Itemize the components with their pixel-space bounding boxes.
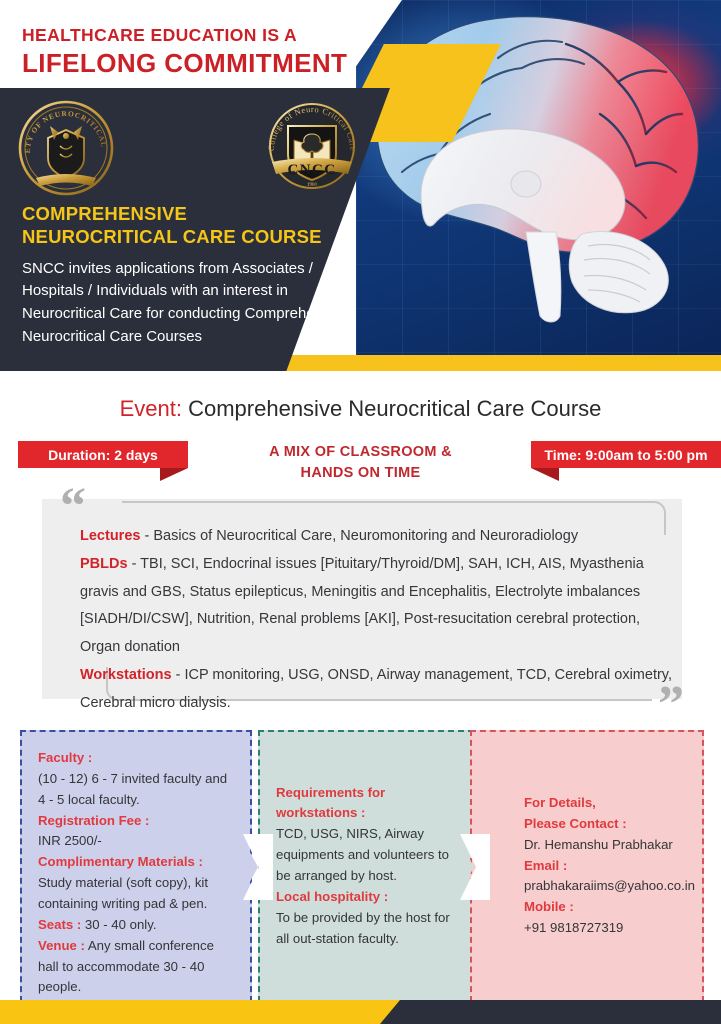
time-badge-label: Time: 9:00am to 5:00 pm	[544, 447, 707, 463]
course-description: SNCC invites applications from Associate…	[22, 258, 372, 349]
info-panels: Faculty : (10 - 12) 6 - 7 invited facult…	[0, 730, 721, 1002]
email-label: Email :	[524, 858, 567, 873]
registration-fee-value: INR 2500/-	[38, 831, 234, 852]
time-badge: Time: 9:00am to 5:00 pm	[531, 441, 721, 468]
email-value[interactable]: prabhakaraiims@yahoo.co.in	[524, 876, 695, 897]
svg-text:1980: 1980	[307, 183, 318, 188]
faculty-label: Faculty :	[38, 750, 92, 765]
panel-requirements: Requirements for workstations : TCD, USG…	[258, 730, 474, 1002]
sncc-logo-icon: SOCIETY OF NEUROCRITICAL CARE	[14, 96, 118, 200]
hero-text-block: COMPREHENSIVE NEUROCRITICAL CARE COURSE …	[22, 202, 372, 349]
registration-fee-label: Registration Fee :	[38, 813, 149, 828]
mobile-value[interactable]: +91 9818727319	[524, 918, 695, 939]
quote-rule-top	[122, 501, 650, 503]
seats-label: Seats :	[38, 917, 81, 932]
curriculum-label: Workstations	[80, 667, 172, 683]
curriculum-label: Lectures	[80, 528, 140, 544]
poster-root: HEALTHCARE EDUCATION IS A LIFELONG COMMI…	[0, 0, 721, 1024]
footer-bar	[0, 1000, 721, 1024]
materials-label: Complimentary Materials :	[38, 854, 203, 869]
hospitality-value: To be provided by the host for all out-s…	[276, 908, 456, 950]
curriculum-item: Workstations - ICP monitoring, USG, ONSD…	[80, 662, 680, 718]
contact-person: Dr. Hemanshu Prabhakar	[524, 835, 695, 856]
course-title-line-2: NEUROCRITICAL CARE COURSE	[22, 225, 372, 248]
cncc-logo-icon: College of Neuro Critical Care CNCC 1980	[258, 100, 366, 192]
hero-bottom-white-bar	[0, 371, 721, 383]
contact-heading-line-2: Please Contact :	[524, 816, 627, 831]
curriculum-item: PBLDs - TBI, SCI, Endocrinal issues [Pit…	[80, 551, 680, 662]
hospitality-label: Local hospitality :	[276, 889, 388, 904]
headline-line-1: HEALTHCARE EDUCATION IS A	[22, 26, 347, 45]
headline-line-2: LIFELONG COMMITMENT	[22, 48, 347, 79]
mobile-label: Mobile :	[524, 899, 574, 914]
hero-section: HEALTHCARE EDUCATION IS A LIFELONG COMMI…	[0, 0, 721, 383]
curriculum-item: Lectures - Basics of Neurocritical Care,…	[80, 523, 680, 551]
panel-faculty: Faculty : (10 - 12) 6 - 7 invited facult…	[20, 730, 252, 1002]
requirements-label-line-2: workstations :	[276, 805, 365, 820]
materials-value: Study material (soft copy), kit containi…	[38, 873, 234, 915]
seats-value: 30 - 40 only.	[81, 917, 156, 932]
curriculum-content: Lectures - Basics of Neurocritical Care,…	[80, 523, 680, 718]
footer-yellow-segment	[0, 1000, 410, 1024]
contact-heading-line-1: For Details,	[524, 795, 596, 810]
curriculum-text: - TBI, SCI, Endocrinal issues [Pituitary…	[80, 556, 644, 655]
venue-label: Venue :	[38, 938, 85, 953]
logo-row: SOCIETY OF NEUROCRITICAL CARE	[0, 88, 390, 196]
requirements-value: TCD, USG, NIRS, Airway equipments and vo…	[276, 824, 456, 887]
event-title: Comprehensive Neurocritical Care Course	[188, 396, 601, 421]
course-title: COMPREHENSIVE NEUROCRITICAL CARE COURSE	[22, 202, 372, 249]
curriculum-label: PBLDs	[80, 556, 128, 572]
faculty-value: (10 - 12) 6 - 7 invited faculty and 4 - …	[38, 769, 234, 811]
headline: HEALTHCARE EDUCATION IS A LIFELONG COMMI…	[22, 26, 347, 79]
curriculum-quote-block: “ ” Lectures - Basics of Neurocritical C…	[32, 489, 690, 715]
panel-contact: For Details, Please Contact : Dr. Hemans…	[470, 730, 704, 1002]
requirements-label-line-1: Requirements for	[276, 785, 385, 800]
course-title-line-1: COMPREHENSIVE	[22, 202, 372, 225]
footer-dark-segment	[380, 1000, 721, 1024]
event-line: Event: Comprehensive Neurocritical Care …	[0, 396, 721, 422]
svg-text:CNCC: CNCC	[288, 162, 337, 178]
event-label: Event:	[120, 396, 182, 421]
curriculum-text: - Basics of Neurocritical Care, Neuromon…	[140, 528, 578, 544]
